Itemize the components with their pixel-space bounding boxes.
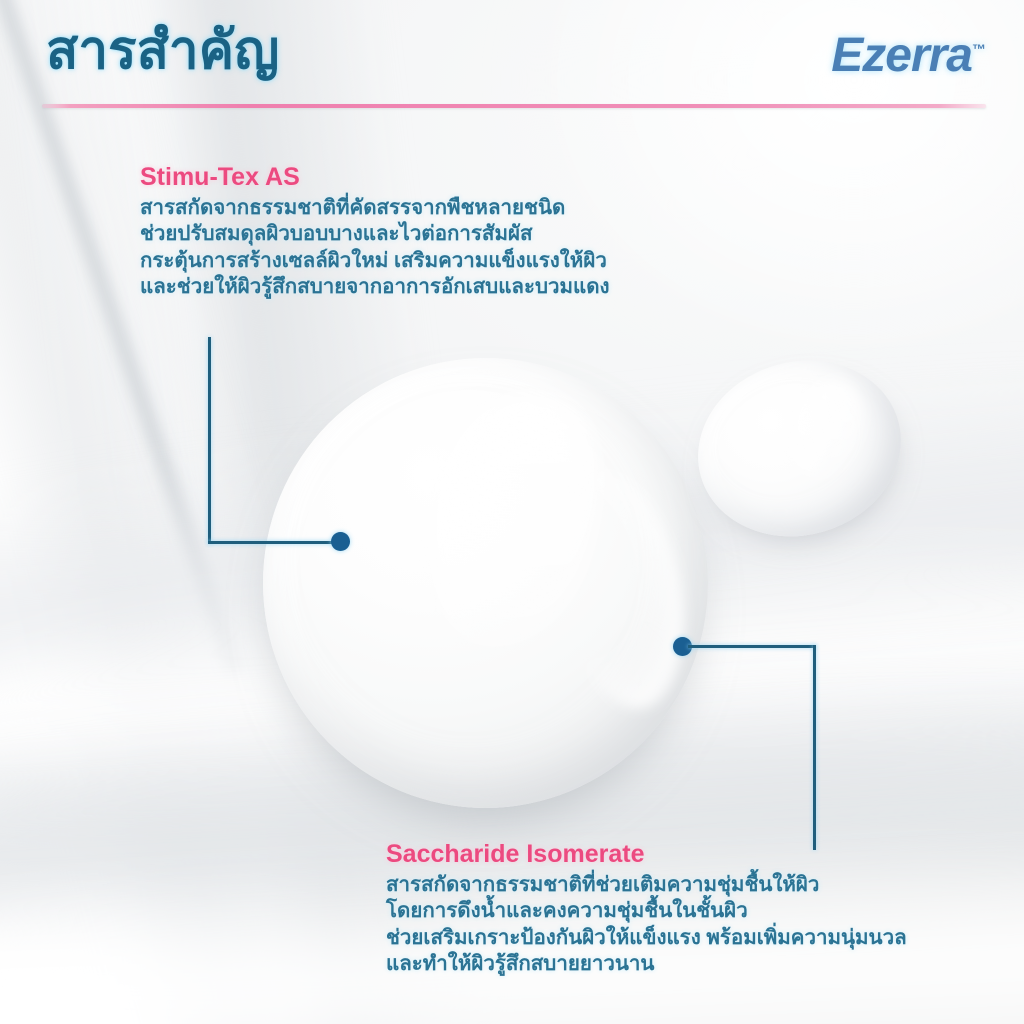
connector-line-stimu-tex-vertical — [208, 337, 211, 544]
callout-line: และช่วยให้ผิวรู้สึกสบายจากอาการอักเสบและ… — [140, 274, 610, 301]
trademark-icon: ™ — [972, 41, 986, 57]
callout-line: ช่วยเสริมเกราะป้องกันผิวให้แข็งแรง พร้อม… — [386, 925, 907, 952]
ingredient-infographic-page: สารสำคัญ Ezerra™ Stimu-Tex AS สารสกัดจาก… — [0, 0, 1024, 1024]
callout-body-saccharide-isomerate: สารสกัดจากธรรมชาติที่ช่วยเติมความชุ่มชื้… — [386, 872, 907, 979]
callout-line: โดยการดึงน้ำและคงความชุ่มชื้นในชั้นผิว — [386, 898, 907, 925]
callout-title-saccharide-isomerate: Saccharide Isomerate — [386, 840, 907, 870]
brand-logo: Ezerra™ — [831, 28, 986, 83]
callout-title-stimu-tex-as: Stimu-Tex AS — [140, 163, 610, 193]
callout-line: สารสกัดจากธรรมชาติที่ช่วยเติมความชุ่มชื้… — [386, 872, 907, 899]
callout-saccharide-isomerate: Saccharide Isomerate สารสกัดจากธรรมชาติท… — [386, 840, 907, 978]
callout-line: สารสกัดจากธรรมชาติที่คัดสรรจากพืชหลายชนิ… — [140, 195, 610, 222]
connector-line-stimu-tex-horizontal — [208, 541, 340, 544]
connector-line-saccharide-horizontal — [688, 645, 816, 648]
callout-body-stimu-tex-as: สารสกัดจากธรรมชาติที่คัดสรรจากพืชหลายชนิ… — [140, 195, 610, 302]
brand-logo-text: Ezerra — [831, 29, 972, 82]
page-title: สารสำคัญ — [46, 24, 279, 77]
callout-line: กระตุ้นการสร้างเซลล์ผิวใหม่ เสริมความแข็… — [140, 248, 610, 275]
connector-dot-stimu-tex — [331, 532, 350, 551]
callout-stimu-tex-as: Stimu-Tex AS สารสกัดจากธรรมชาติที่คัดสรร… — [140, 163, 610, 301]
callout-line: และทำให้ผิวรู้สึกสบายยาวนาน — [386, 951, 907, 978]
header-divider — [42, 104, 986, 108]
callout-line: ช่วยปรับสมดุลผิวบอบบางและไวต่อการสัมผัส — [140, 221, 610, 248]
connector-line-saccharide-vertical — [813, 645, 816, 850]
